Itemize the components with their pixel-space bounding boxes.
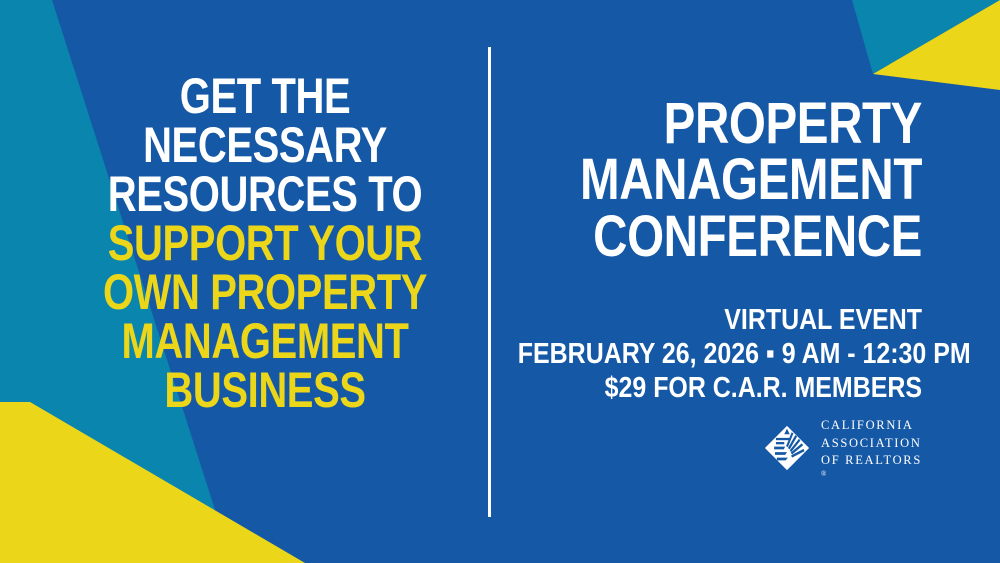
event-promo-banner: GET THE NECESSARY RESOURCES TO SUPPORT Y… (0, 0, 1000, 563)
event-details-block: VIRTUAL EVENT FEBRUARY 26, 2026 ▪ 9 AM -… (452, 303, 922, 406)
headline-line-6: MANAGEMENT (101, 317, 429, 366)
logo-line-california: CALIFORNIA (821, 417, 922, 435)
logo-line-association: ASSOCIATION (821, 435, 922, 453)
registered-trademark-icon: ® (821, 470, 922, 480)
california-association-of-realtors-emblem-icon (764, 425, 810, 471)
event-date-time: FEBRUARY 26, 2026 ▪ 9 AM - 12:30 PM (518, 337, 922, 371)
headline-line-2: NECESSARY (101, 121, 429, 170)
headline-line-5: OWN PROPERTY (101, 268, 429, 317)
headline-line-4: SUPPORT YOUR (101, 219, 429, 268)
event-format: VIRTUAL EVENT (518, 303, 922, 337)
headline-line-7: BUSINESS (101, 366, 429, 415)
car-logo: CALIFORNIA ASSOCIATION OF REALTORS® (764, 417, 922, 479)
event-title-line-2: MANAGEMENT (537, 152, 922, 208)
headline-line-3: RESOURCES TO (101, 170, 429, 219)
event-price: $29 FOR C.A.R. MEMBERS (518, 371, 922, 405)
car-logo-text: CALIFORNIA ASSOCIATION OF REALTORS® (821, 417, 922, 479)
event-title-block: PROPERTY MANAGEMENT CONFERENCE (452, 96, 922, 265)
event-title-line-1: PROPERTY (537, 96, 922, 152)
event-title-line-3: CONFERENCE (537, 209, 922, 265)
left-headline-block: GET THE NECESSARY RESOURCES TO SUPPORT Y… (60, 72, 470, 415)
headline-line-1: GET THE (101, 72, 429, 121)
logo-line-of-realtors: OF REALTORS® (821, 452, 922, 479)
